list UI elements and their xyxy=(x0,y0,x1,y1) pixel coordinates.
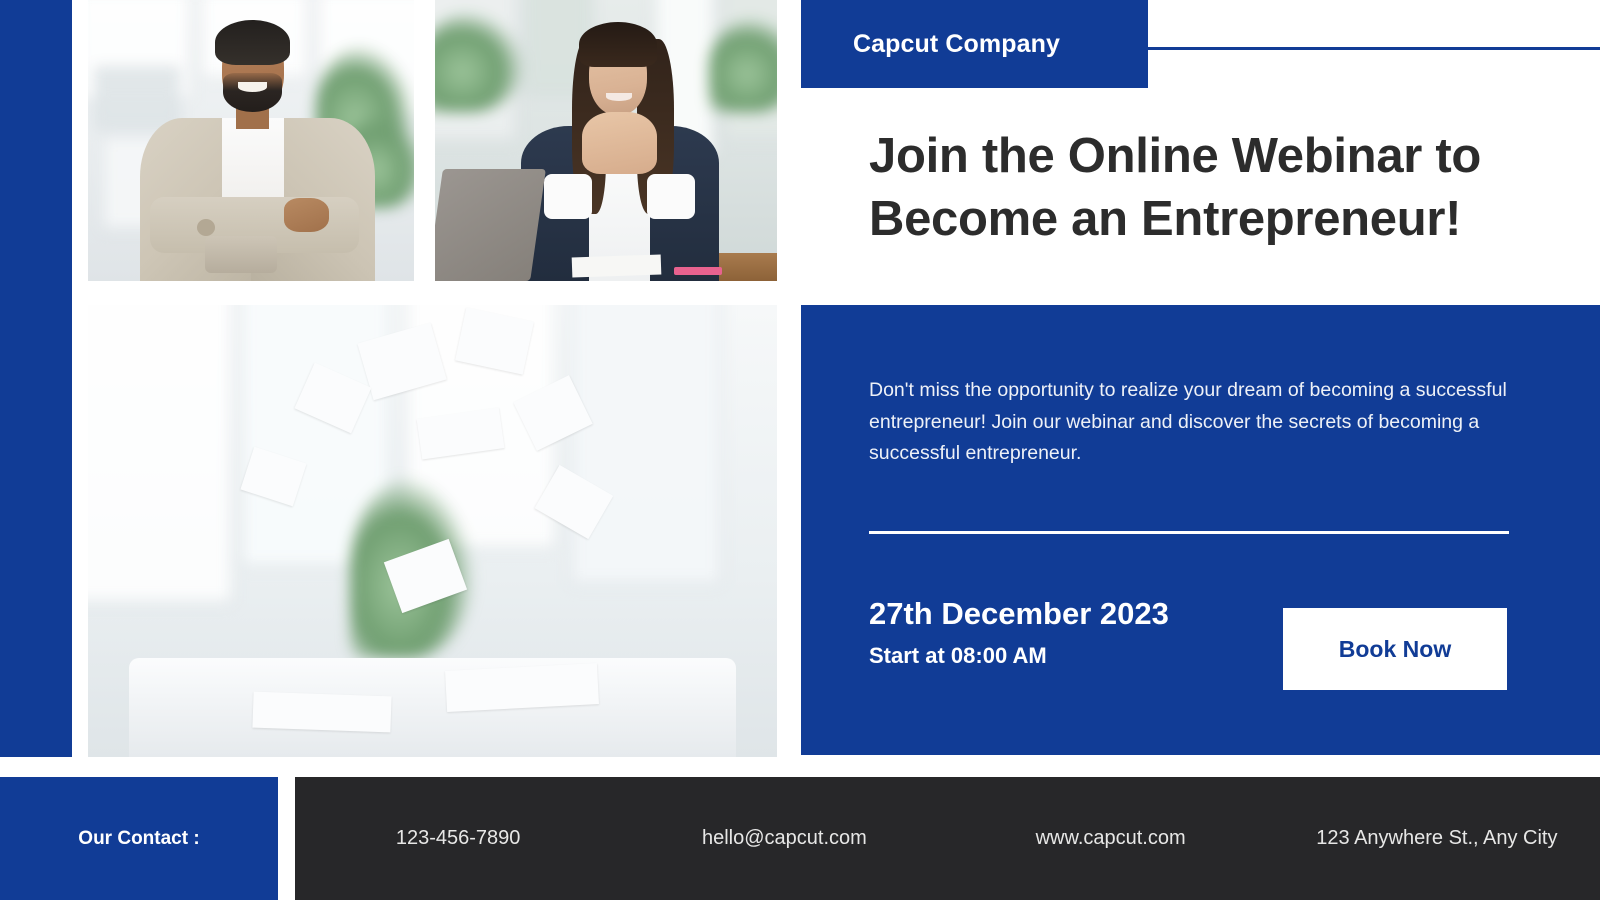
contact-label: Our Contact : xyxy=(78,828,199,850)
photo-team-celebrating xyxy=(88,305,777,757)
contact-label-box: Our Contact : xyxy=(0,777,278,900)
contact-website[interactable]: www.capcut.com xyxy=(948,827,1274,850)
contact-address: 123 Anywhere St., Any City xyxy=(1274,827,1600,850)
contact-email[interactable]: hello@capcut.com xyxy=(621,827,947,850)
description-text: Don't miss the opportunity to realize yo… xyxy=(869,375,1519,470)
company-name: Capcut Company xyxy=(853,30,1060,59)
panel-divider-line xyxy=(869,531,1509,534)
left-accent-bar xyxy=(0,0,72,757)
book-now-button[interactable]: Book Now xyxy=(1283,608,1507,690)
brand-header: Capcut Company xyxy=(801,0,1148,88)
header-divider-line xyxy=(1148,47,1600,50)
event-time: Start at 08:00 AM xyxy=(869,643,1047,669)
page-title: Join the Online Webinar to Become an Ent… xyxy=(869,125,1569,250)
contact-phone[interactable]: 123-456-7890 xyxy=(295,827,621,850)
contact-bar: 123-456-7890 hello@capcut.com www.capcut… xyxy=(295,777,1600,900)
event-date: 27th December 2023 xyxy=(869,596,1169,632)
photo-businessman-portrait xyxy=(88,0,414,281)
webinar-flyer: Capcut Company Join the Online Webinar t… xyxy=(0,0,1600,900)
photo-businesswoman-laptop xyxy=(435,0,777,281)
